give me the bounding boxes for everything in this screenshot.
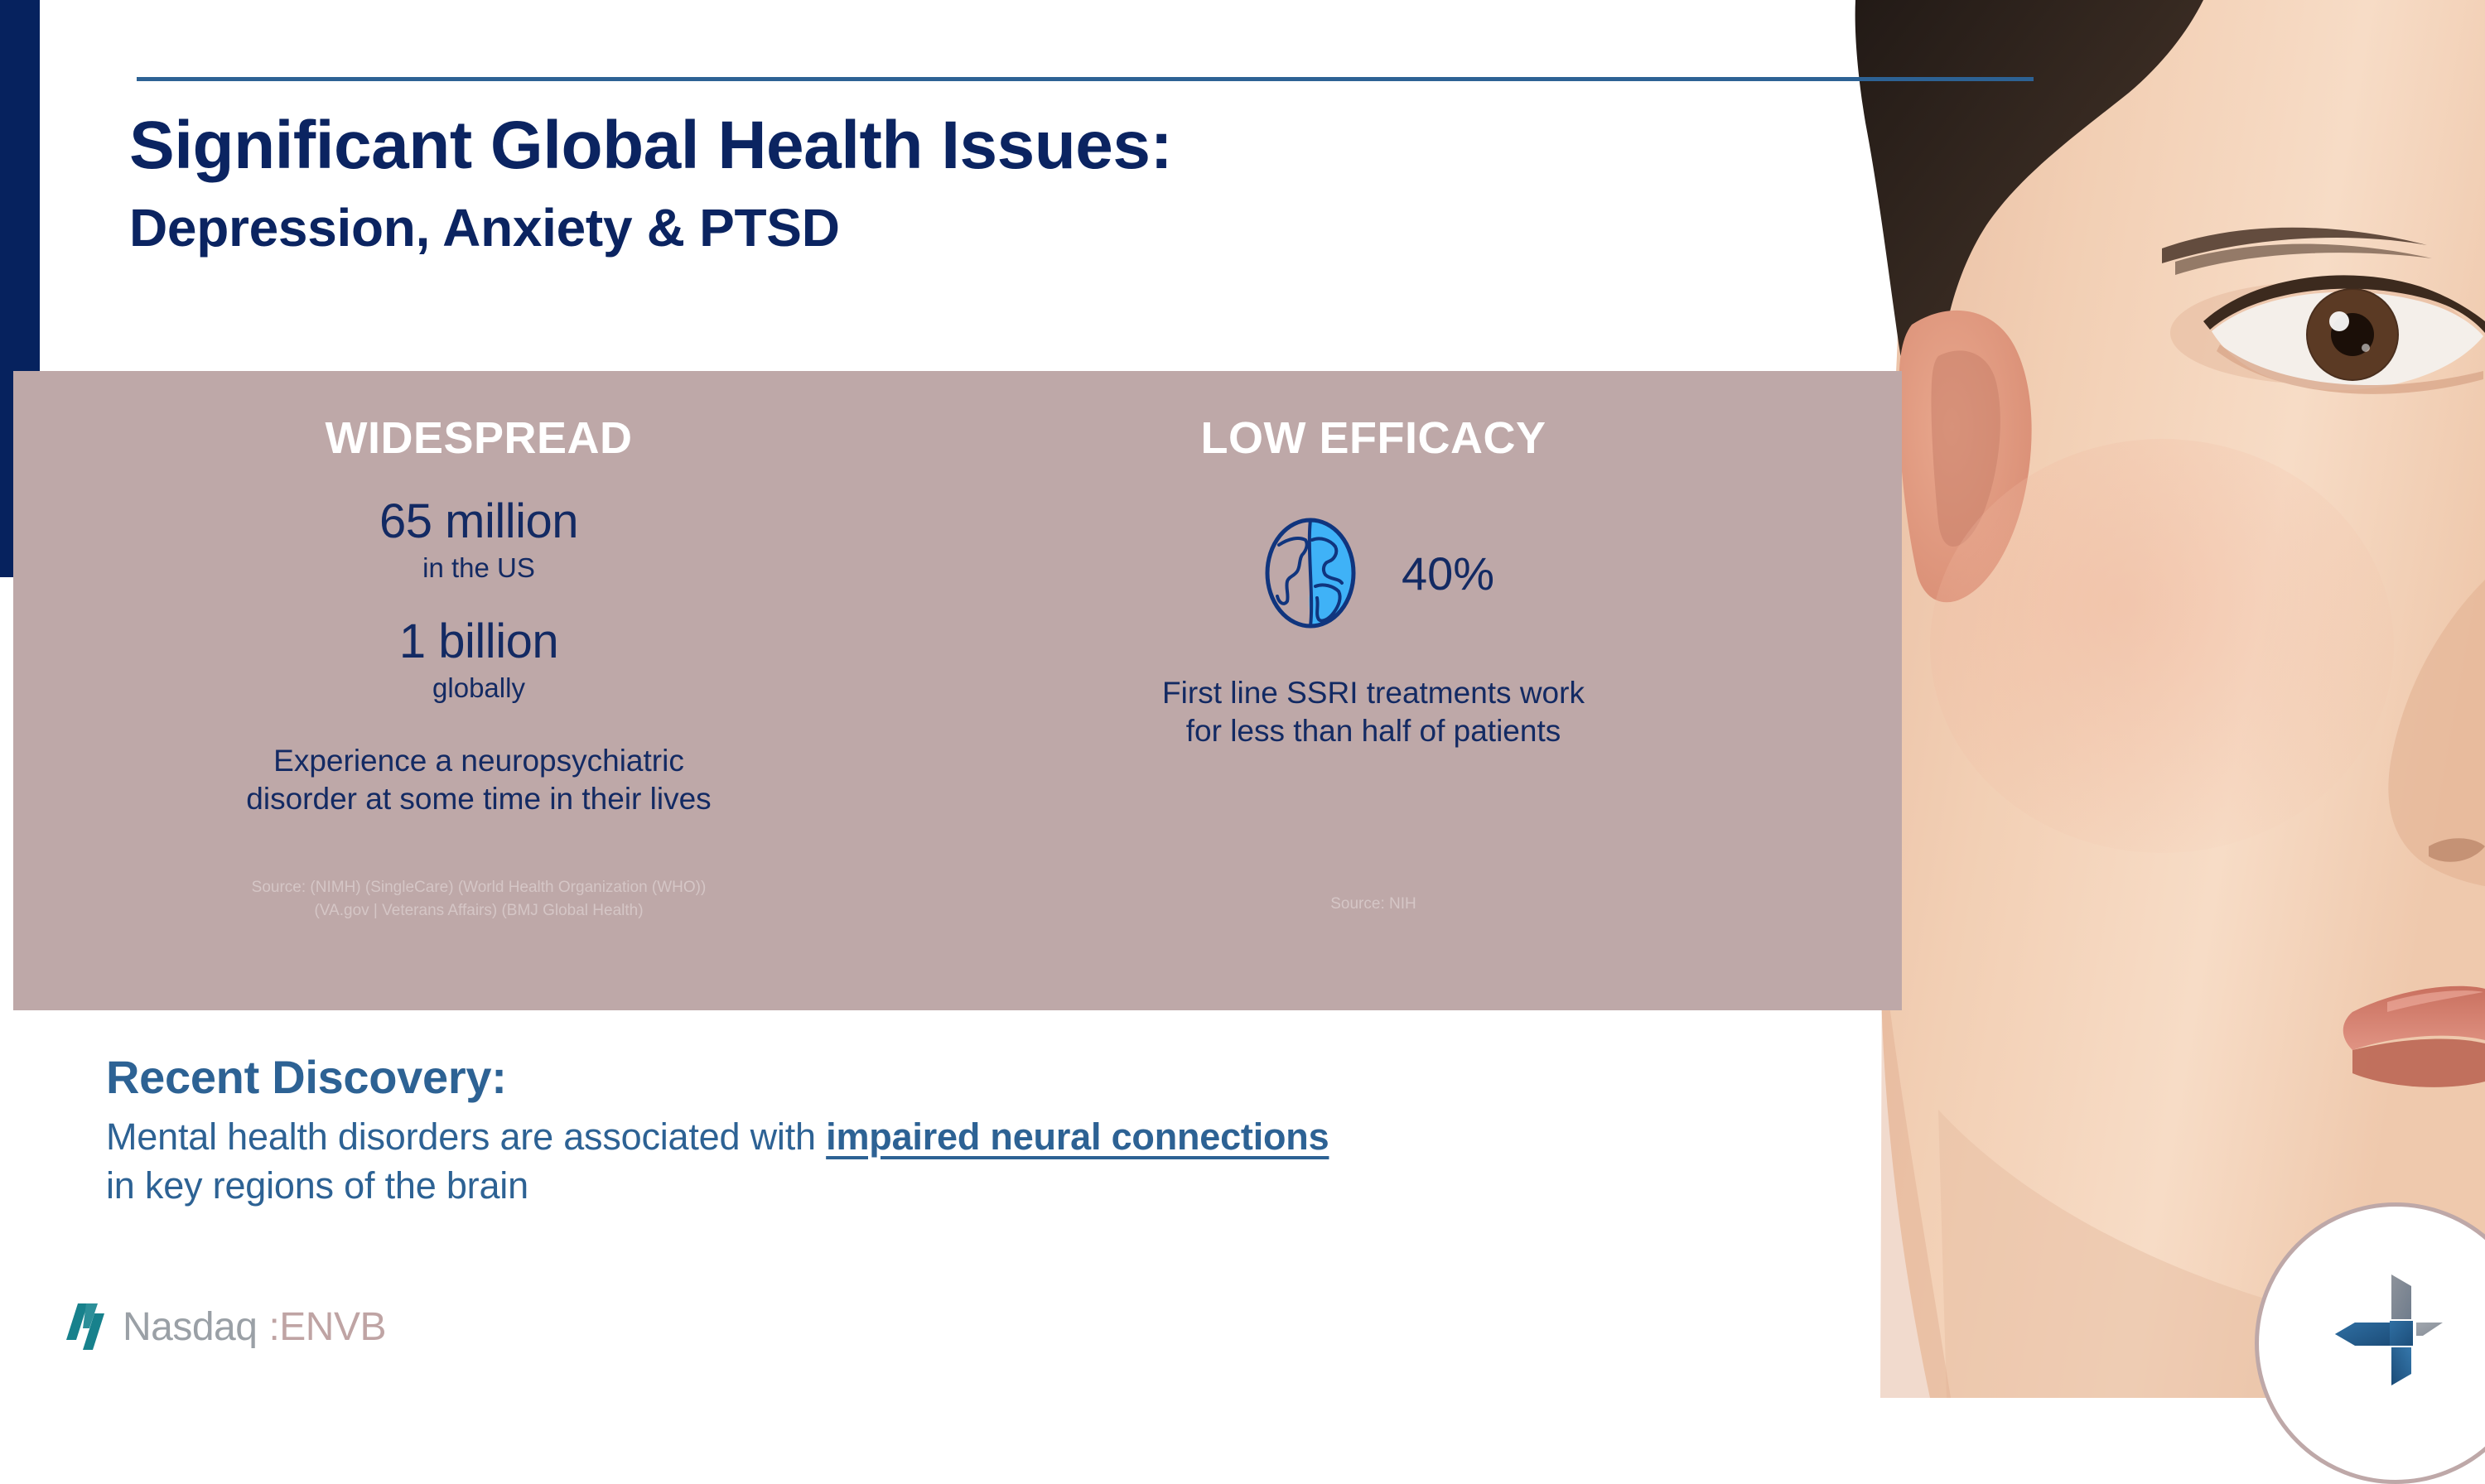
header: Significant Global Health Issues: Depres… [0,0,2071,373]
recent-discovery-title: Recent Discovery: [106,1050,1895,1104]
stat-body-line: First line SSRI treatments work [918,674,1829,712]
recent-discovery-body-prefix: Mental health disorders are associated w… [106,1115,826,1158]
stat-figure-caption-us: in the US [40,552,918,584]
page-title: Significant Global Health Issues: Depres… [129,112,1952,254]
stat-column-low-efficacy: LOW EFFICACY [918,371,1829,1010]
stat-figure-caption-global: globally [40,672,918,704]
nasdaq-logo: Nasdaq:ENVB [65,1302,386,1351]
page-title-line-2: Depression, Anxiety & PTSD [129,201,1952,254]
stat-column-widespread: WIDESPREAD 65 million in the US 1 billio… [40,371,918,1010]
stat-source-low-efficacy: Source: NIH [1199,893,1547,916]
globe-percent-row: 40% [918,515,1829,631]
enveric-cross-logo-icon [2327,1268,2451,1392]
recent-discovery-section: Recent Discovery: Mental health disorder… [106,1050,1895,1211]
stat-percent-value: 40% [1402,547,1494,600]
recent-discovery-emphasis: impaired neural connections [826,1115,1329,1158]
nasdaq-ticker-symbol: :ENVB [268,1304,386,1350]
stat-figure-value-global: 1 billion [40,614,918,669]
stat-body-line: Experience a neuropsychiatric [40,742,918,780]
stat-body-widespread: Experience a neuropsychiatric disorder a… [40,742,918,819]
nasdaq-logo-icon [65,1302,111,1351]
recent-discovery-body-suffix: in key regions of the brain [106,1164,528,1207]
stat-body-line: for less than half of patients [918,712,1829,750]
statistics-panel: WIDESPREAD 65 million in the US 1 billio… [13,371,1902,1010]
stat-source-widespread: Source: (NIMH) (SingleCare) (World Healt… [222,876,736,922]
stat-body-low-efficacy: First line SSRI treatments work for less… [918,674,1829,751]
globe-icon [1252,515,1368,631]
stat-heading-low-efficacy: LOW EFFICACY [918,412,1829,464]
stat-body-line: disorder at some time in their lives [40,780,918,818]
recent-discovery-body: Mental health disorders are associated w… [106,1112,1895,1211]
stat-figure-value-us: 65 million [40,494,918,549]
nasdaq-wordmark: Nasdaq [123,1304,257,1350]
header-divider-rule [137,77,2034,81]
page-title-line-1: Significant Global Health Issues: [129,112,1952,180]
stat-heading-widespread: WIDESPREAD [40,412,918,464]
